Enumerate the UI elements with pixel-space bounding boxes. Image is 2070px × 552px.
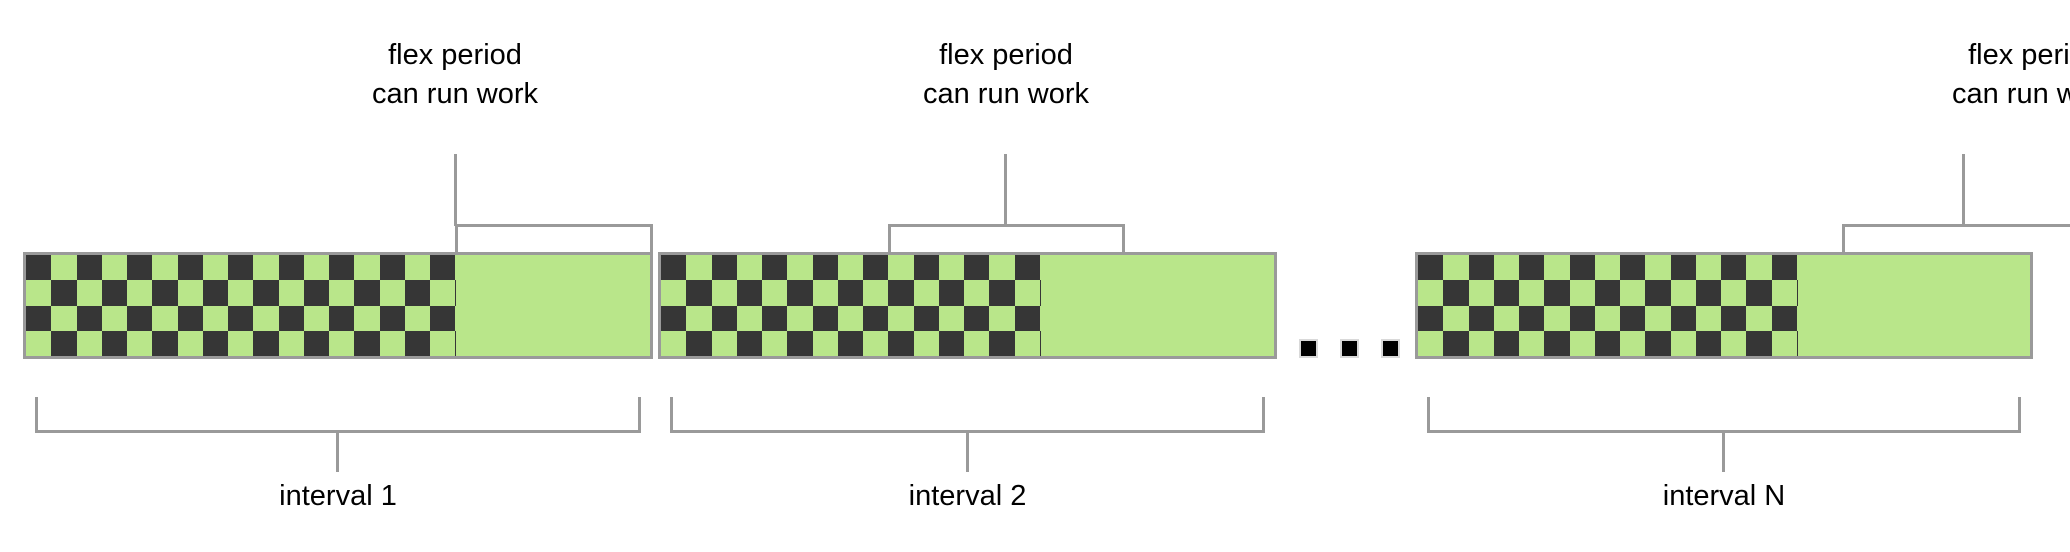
work-cell [813,255,838,280]
checker-row [26,280,456,305]
flex-cell [1671,331,1696,356]
flex-cell [329,280,354,305]
interval-brace-n [1427,397,2021,433]
checker-row [26,306,456,331]
flex-cell [787,255,812,280]
work-cell [203,280,228,305]
work-cell [329,306,354,331]
flex-cell [51,255,76,280]
interval-annotation-2: interval 2 [670,397,1265,537]
checker-row [1418,255,1798,280]
flex-cell [127,331,152,356]
flex-cell [77,331,102,356]
flex-cell [1746,306,1771,331]
work-cell [51,280,76,305]
flex-cell [304,306,329,331]
checker-row [1418,280,1798,305]
flex-period-label-3: flex period can run work [1855,36,2070,114]
interval-brace-1 [35,397,641,433]
work-cell [1797,331,1798,356]
flex-cell [455,255,456,280]
work-cell [1494,331,1519,356]
flex-period-stem-3 [1962,154,1965,226]
work-cell [1494,280,1519,305]
flex-cell [838,255,863,280]
interval-label-1: interval 1 [35,479,641,513]
work-cell [77,306,102,331]
work-cell [405,280,430,305]
flex-cell [863,331,888,356]
flex-cell [1696,306,1721,331]
flex-cell [1772,331,1797,356]
work-cell [1671,306,1696,331]
flex-cell [228,331,253,356]
ellipsis-dot [1299,339,1318,358]
work-cell [863,255,888,280]
flex-cell [813,331,838,356]
flex-cell [26,280,51,305]
flex-cell [279,331,304,356]
work-cell [939,280,964,305]
flex-cell [152,306,177,331]
work-cell [253,331,278,356]
flex-period-brace-2 [888,224,1125,252]
work-cell [888,331,913,356]
work-cell [430,306,455,331]
checker-row [1418,306,1798,331]
flex-cell [253,306,278,331]
work-cell [939,331,964,356]
flex-period-stem-2 [1004,154,1007,226]
ellipsis-dot [1340,339,1359,358]
work-cell [1671,255,1696,280]
flex-cell [77,280,102,305]
flex-cell [989,306,1014,331]
flex-cell [914,280,939,305]
work-cell [1595,331,1620,356]
work-cell [1040,331,1041,356]
work-cell [1772,255,1797,280]
flex-cell [1015,280,1040,305]
flex-cell [1797,306,1798,331]
work-cell [1544,331,1569,356]
flex-cell [102,306,127,331]
work-cell [26,306,51,331]
flex-cell [1418,280,1443,305]
flex-cell [228,280,253,305]
flex-cell [762,280,787,305]
flex-cell [1544,255,1569,280]
flex-cell [51,306,76,331]
interval-label-2: interval 2 [670,479,1265,513]
interval-annotation-n: interval N [1427,397,2021,537]
work-cell [253,280,278,305]
work-cell [455,280,456,305]
flex-cell [686,306,711,331]
work-cell [228,255,253,280]
flex-period-label-2: flex period can run work [735,36,1277,114]
work-cell [1772,306,1797,331]
flex-cell [430,280,455,305]
flex-cell [737,306,762,331]
work-cell [430,255,455,280]
flex-period-label-1: flex period can run work [255,36,655,114]
work-cell [1721,306,1746,331]
work-cell [1418,255,1443,280]
flex-cell [354,255,379,280]
work-cell [51,331,76,356]
work-cell [1015,255,1040,280]
flex-cell [1797,255,1798,280]
work-cell [964,306,989,331]
flex-cell [26,331,51,356]
flex-cell [304,255,329,280]
work-cell [203,331,228,356]
work-cell [1544,280,1569,305]
flex-cell [712,280,737,305]
work-cell [661,306,686,331]
work-cell [737,331,762,356]
flex-cell [1696,255,1721,280]
flex-cell [939,255,964,280]
work-cell [661,255,686,280]
work-cell [964,255,989,280]
flex-cell [1544,306,1569,331]
interval-brace-2 [670,397,1265,433]
work-cell [102,280,127,305]
work-cell [1469,306,1494,331]
work-cell [787,280,812,305]
flex-period-label-line1: flex period [735,36,1277,75]
flex-period-label-line1: flex period [1855,36,2070,75]
flex-cell [1494,306,1519,331]
flex-cell [1595,255,1620,280]
flex-cell [127,280,152,305]
flex-cell [813,280,838,305]
work-cell [279,255,304,280]
flex-cell [964,331,989,356]
checker-row [1418,331,1798,356]
flex-cell [787,306,812,331]
flex-cell [1746,255,1771,280]
work-cell [1721,255,1746,280]
work-cell [380,255,405,280]
flex-cell [1570,331,1595,356]
flex-cell [178,280,203,305]
flex-cell [1645,306,1670,331]
interval-stem-2 [966,430,969,472]
flex-cell [455,306,456,331]
flex-cell [1620,280,1645,305]
work-cell [712,255,737,280]
flex-cell [737,255,762,280]
work-cell [989,331,1014,356]
work-cell [354,280,379,305]
checker-row [26,255,456,280]
work-cell [1443,280,1468,305]
work-cell [304,331,329,356]
flex-period-annotation-3: flex period can run work [1855,36,2070,252]
work-cell [1418,306,1443,331]
flex-period-label-line2: can run work [255,75,655,114]
interval-bar-2 [658,252,1277,359]
work-cell [354,331,379,356]
work-cell [1645,280,1670,305]
work-cell [686,280,711,305]
diagram-canvas: flex period can run work flex period can… [0,0,2070,552]
flex-cell [1519,331,1544,356]
work-cell [152,280,177,305]
checker-row [661,255,1041,280]
flex-cell [203,306,228,331]
work-cell [304,280,329,305]
work-cell [762,255,787,280]
flex-cell [1570,280,1595,305]
work-cell [914,255,939,280]
work-cell [1570,306,1595,331]
flex-cell [989,255,1014,280]
flex-cell [1645,255,1670,280]
work-cell [1696,331,1721,356]
work-cell [178,255,203,280]
flex-cell [1443,306,1468,331]
work-cell [888,280,913,305]
interval-bar-1 [23,252,653,359]
work-cell [1696,280,1721,305]
work-cell [1443,331,1468,356]
work-cell [455,331,456,356]
flex-cell [1671,280,1696,305]
flex-cell [914,331,939,356]
interval-bar-n [1415,252,2033,359]
flex-cell [1494,255,1519,280]
work-cell [102,331,127,356]
work-cell [178,306,203,331]
flex-period-annotation-2: flex period can run work [735,36,1277,252]
flex-cell [1040,255,1041,280]
work-cell [762,306,787,331]
flex-cell [888,306,913,331]
flex-cell [1015,331,1040,356]
flex-cell [1418,331,1443,356]
work-cell [838,331,863,356]
flex-cell [1620,331,1645,356]
work-period-checker-n [1418,255,1798,356]
flex-cell [712,331,737,356]
work-cell [1570,255,1595,280]
flex-cell [1443,255,1468,280]
flex-cell [380,280,405,305]
interval-stem-n [1722,430,1725,472]
flex-cell [279,280,304,305]
flex-cell [405,255,430,280]
work-cell [152,331,177,356]
work-cell [77,255,102,280]
ellipsis-dot [1381,339,1400,358]
work-cell [1519,306,1544,331]
flex-period-stem-1 [454,154,457,226]
flex-cell [1469,331,1494,356]
interval-label-n: interval N [1427,479,2021,513]
flex-cell [1721,280,1746,305]
ellipsis-icon [1299,339,1399,358]
work-cell [838,280,863,305]
work-cell [1620,306,1645,331]
work-cell [1797,280,1798,305]
flex-period-label-line2: can run work [735,75,1277,114]
work-cell [329,255,354,280]
work-cell [737,280,762,305]
flex-period-brace-3 [1842,224,2070,252]
checker-row [661,306,1041,331]
flex-cell [964,280,989,305]
work-cell [914,306,939,331]
flex-cell [863,280,888,305]
flex-cell [661,280,686,305]
work-cell [1595,280,1620,305]
work-cell [1015,306,1040,331]
flex-cell [178,331,203,356]
flex-cell [354,306,379,331]
flex-cell [430,331,455,356]
flex-cell [380,331,405,356]
flex-cell [329,331,354,356]
work-cell [127,306,152,331]
work-cell [1040,280,1041,305]
work-cell [1620,255,1645,280]
flex-cell [939,306,964,331]
flex-cell [661,331,686,356]
flex-cell [102,255,127,280]
flex-cell [253,255,278,280]
interval-stem-1 [336,430,339,472]
work-period-checker-1 [26,255,456,356]
flex-cell [1595,306,1620,331]
flex-cell [838,306,863,331]
work-cell [686,331,711,356]
flex-period-annotation-1: flex period can run work [255,36,655,252]
work-cell [279,306,304,331]
interval-annotation-1: interval 1 [35,397,641,537]
flex-period-label-line1: flex period [255,36,655,75]
work-cell [127,255,152,280]
work-cell [712,306,737,331]
work-cell [380,306,405,331]
flex-cell [1469,280,1494,305]
flex-cell [1519,280,1544,305]
checker-row [661,280,1041,305]
flex-period-brace-1 [455,224,653,252]
checker-row [661,331,1041,356]
work-period-checker-2 [661,255,1041,356]
flex-cell [1721,331,1746,356]
work-cell [1469,255,1494,280]
work-cell [863,306,888,331]
work-cell [228,306,253,331]
checker-row [26,331,456,356]
flex-period-label-line2: can run work [1855,75,2070,114]
flex-cell [152,255,177,280]
work-cell [787,331,812,356]
work-cell [1746,280,1771,305]
flex-cell [1040,306,1041,331]
flex-cell [405,306,430,331]
work-cell [26,255,51,280]
flex-cell [1772,280,1797,305]
work-cell [813,306,838,331]
work-cell [989,280,1014,305]
flex-cell [203,255,228,280]
work-cell [1746,331,1771,356]
flex-cell [762,331,787,356]
flex-cell [888,255,913,280]
work-cell [1519,255,1544,280]
work-cell [1645,331,1670,356]
flex-cell [686,255,711,280]
work-cell [405,331,430,356]
